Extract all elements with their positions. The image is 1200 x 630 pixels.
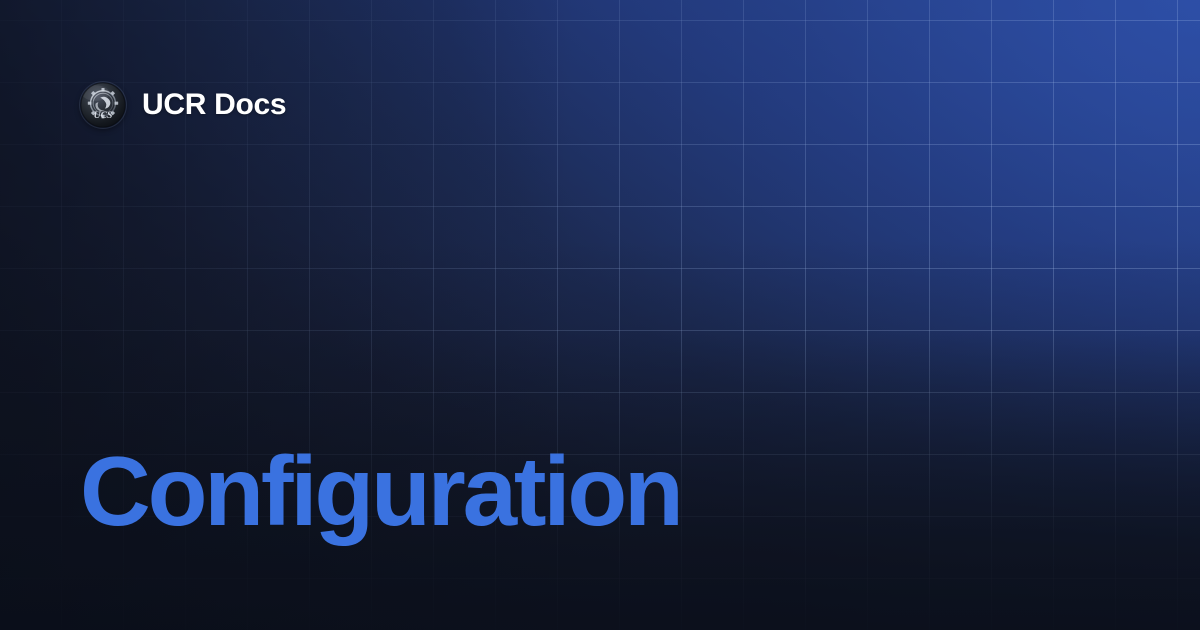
- brand-name-label: UCR Docs: [142, 90, 286, 120]
- page-title: Configuration: [80, 442, 681, 542]
- brand-row: UCS UCR Docs: [80, 82, 286, 128]
- og-preview-card: UCS UCR Docs Configuration: [0, 0, 1200, 630]
- logo-wordmark: UCS: [94, 110, 113, 121]
- ucs-gear-emblem-icon: UCS: [80, 82, 126, 128]
